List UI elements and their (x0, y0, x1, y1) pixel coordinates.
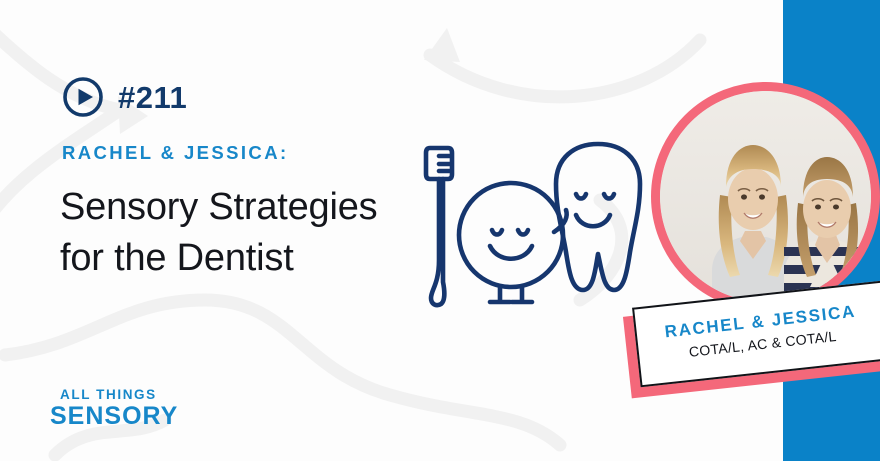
circle-leg-right (512, 287, 532, 302)
circle-eye-right (518, 230, 528, 235)
dental-illustration (418, 132, 668, 317)
brand-logo-line-bottom: SENSORY (50, 403, 178, 429)
brand-logo-line-top: ALL THINGS (60, 388, 178, 403)
decor-arrowhead-topmid (424, 28, 460, 62)
tooth-eye-right (604, 194, 614, 199)
tooth-eye-left (576, 194, 586, 199)
smiling-circle-character-icon (459, 183, 567, 302)
episode-title-line-1: Sensory Strategies (60, 182, 460, 233)
guest-photo-illustration (660, 91, 871, 302)
episode-title: Sensory Strategies for the Dentist (60, 182, 460, 284)
brand-logo: ALL THINGS SENSORY (50, 388, 178, 429)
episode-row: #211 (62, 76, 187, 118)
toothbrush-icon (426, 148, 452, 305)
tooth-smile (576, 215, 610, 226)
decor-swirl-topmid (430, 40, 700, 97)
episode-title-line-2: for the Dentist (60, 233, 460, 284)
guest-subtitle: RACHEL & JESSICA: (62, 142, 289, 164)
guest-photo-inner (660, 91, 871, 302)
episode-number: #211 (118, 82, 187, 113)
circle-smile (490, 246, 532, 259)
podcast-episode-poster: #211 RACHEL & JESSICA: Sensory Strategie… (0, 0, 880, 461)
play-circle-icon[interactable] (62, 76, 104, 118)
circle-eye-left (492, 230, 502, 235)
circle-leg-left (490, 287, 510, 302)
guest-photo (651, 82, 880, 311)
